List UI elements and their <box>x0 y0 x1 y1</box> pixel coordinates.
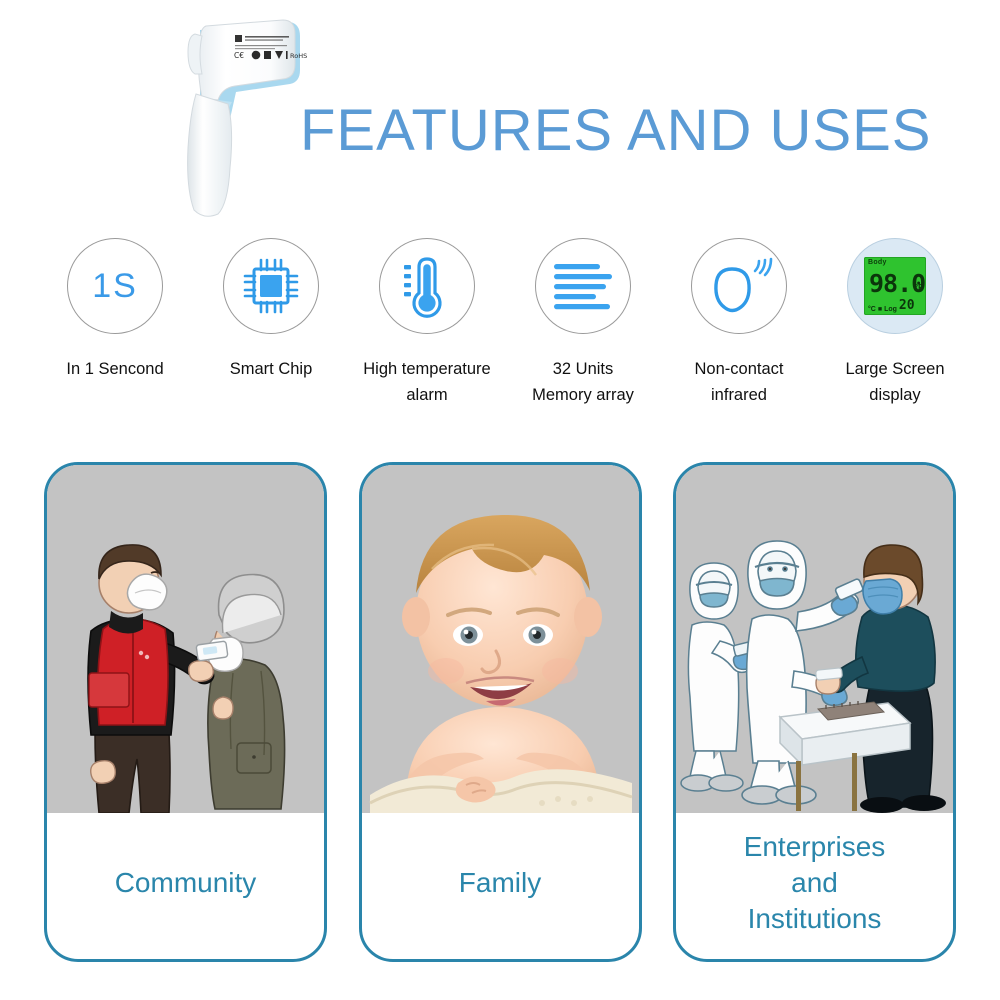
baby-photo <box>362 465 639 813</box>
feature-label: 32 Units Memory array <box>532 356 634 408</box>
feature-smart-chip: Smart Chip <box>196 238 346 382</box>
infrared-thermometer-gun-icon: C€ RoHS <box>140 8 310 223</box>
feature-label: High temperature alarm <box>363 356 490 408</box>
lcd-footer: °C ■ Log 20 <box>868 298 915 313</box>
lcd-log-value: 20 <box>899 298 915 313</box>
lcd-screen-icon: Body 98.0 °F °C ■ Log 20 <box>847 238 943 334</box>
use-case-card-community[interactable]: Community <box>44 462 327 962</box>
use-case-card-enterprises[interactable]: Enterprises and Institutions <box>673 462 956 962</box>
feature-high-temperature-alarm: High temperature alarm <box>352 238 502 408</box>
svg-text:RoHS: RoHS <box>290 52 307 60</box>
thermometer-icon <box>379 238 475 334</box>
infographic-page: C€ RoHS FEATURES AND USES 1S In 1 Sencon… <box>0 0 1000 1000</box>
feature-large-screen-display: Body 98.0 °F °C ■ Log 20 Large Screen di… <box>820 238 970 408</box>
lcd-panel: Body 98.0 °F °C ■ Log 20 <box>864 257 926 315</box>
non-contact-infrared-icon <box>691 238 787 334</box>
feature-label: Smart Chip <box>230 356 313 382</box>
card-caption: Community <box>47 813 324 959</box>
card-caption: Enterprises and Institutions <box>676 813 953 959</box>
feature-label: Large Screen display <box>845 356 944 408</box>
feature-in-1-second: 1S In 1 Sencond <box>40 238 190 382</box>
lcd-unit-label: °F <box>915 283 923 292</box>
card-caption: Family <box>362 813 639 959</box>
enterprise-checkpoint-illustration <box>676 465 953 813</box>
feature-label: In 1 Sencond <box>66 356 163 382</box>
community-illustration <box>47 465 324 813</box>
memory-array-icon <box>535 238 631 334</box>
feature-non-contact-infrared: Non-contact infrared <box>664 238 814 408</box>
header: C€ RoHS FEATURES AND USES <box>0 0 1000 225</box>
smart-chip-icon <box>223 238 319 334</box>
use-case-card-family[interactable]: Family <box>359 462 642 962</box>
lcd-log-label: Log <box>884 306 897 313</box>
feature-strip: 1S In 1 Sencond <box>40 238 970 428</box>
lcd-mode-label: Body <box>868 259 887 266</box>
lcd-celsius-label: °C <box>868 306 876 313</box>
feature-memory-array: 32 Units Memory array <box>508 238 658 408</box>
svg-text:C€: C€ <box>234 51 244 60</box>
use-case-cards: Community <box>44 462 956 962</box>
one-second-icon: 1S <box>67 238 163 334</box>
one-second-badge-text: 1S <box>92 267 138 306</box>
battery-icon: ■ <box>878 306 882 313</box>
page-title: FEATURES AND USES <box>300 97 920 164</box>
feature-label: Non-contact infrared <box>695 356 784 408</box>
